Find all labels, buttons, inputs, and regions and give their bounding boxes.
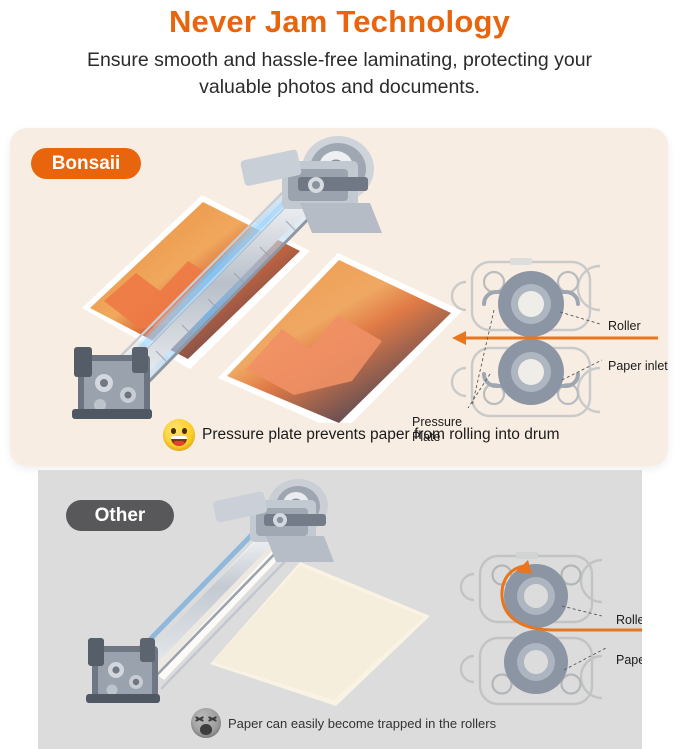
- infographic-page: Never Jam Technology Ensure smooth and h…: [0, 0, 679, 749]
- caption-other-text: Paper can easily become trapped in the r…: [228, 716, 496, 731]
- badge-bonsaii: Bonsaii: [31, 148, 141, 179]
- subtitle-line-2: valuable photos and documents.: [25, 74, 655, 101]
- roller-top: [498, 271, 564, 337]
- diagram-label-roller-good: Roller: [608, 319, 641, 333]
- header: Never Jam Technology Ensure smooth and h…: [0, 0, 679, 101]
- caption-bonsaii-text: Pressure plate prevents paper from rolli…: [202, 426, 560, 444]
- smiling-face-icon: [163, 419, 195, 451]
- caption-other: Paper can easily become trapped in the r…: [191, 708, 496, 738]
- diagram-label-paper-inlet-good: Paper inlet: [608, 359, 668, 373]
- other-roller-diagram: [458, 550, 642, 710]
- badge-other-label: Other: [95, 505, 146, 527]
- gear-block-gray: [86, 638, 160, 703]
- motor-assembly-gray: [212, 479, 334, 562]
- paper-path-straight: [452, 331, 658, 345]
- diagram-label-paper-inlet-bad: Paper inlet: [616, 653, 642, 667]
- badge-bonsaii-label: Bonsaii: [52, 153, 121, 175]
- roller-bottom: [498, 339, 564, 405]
- caption-bonsaii: Pressure plate prevents paper from rolli…: [163, 419, 560, 451]
- weary-face-icon: [191, 708, 221, 738]
- badge-other: Other: [66, 500, 174, 531]
- roller-bottom: [504, 630, 568, 694]
- gear-block: [72, 347, 152, 419]
- diagram-label-roller-bad: Roller: [616, 613, 642, 627]
- bonsaii-roller-diagram: [450, 256, 660, 421]
- page-subtitle: Ensure smooth and hassle-free laminating…: [25, 47, 655, 101]
- subtitle-line-1: Ensure smooth and hassle-free laminating…: [25, 47, 655, 74]
- page-title: Never Jam Technology: [0, 3, 679, 41]
